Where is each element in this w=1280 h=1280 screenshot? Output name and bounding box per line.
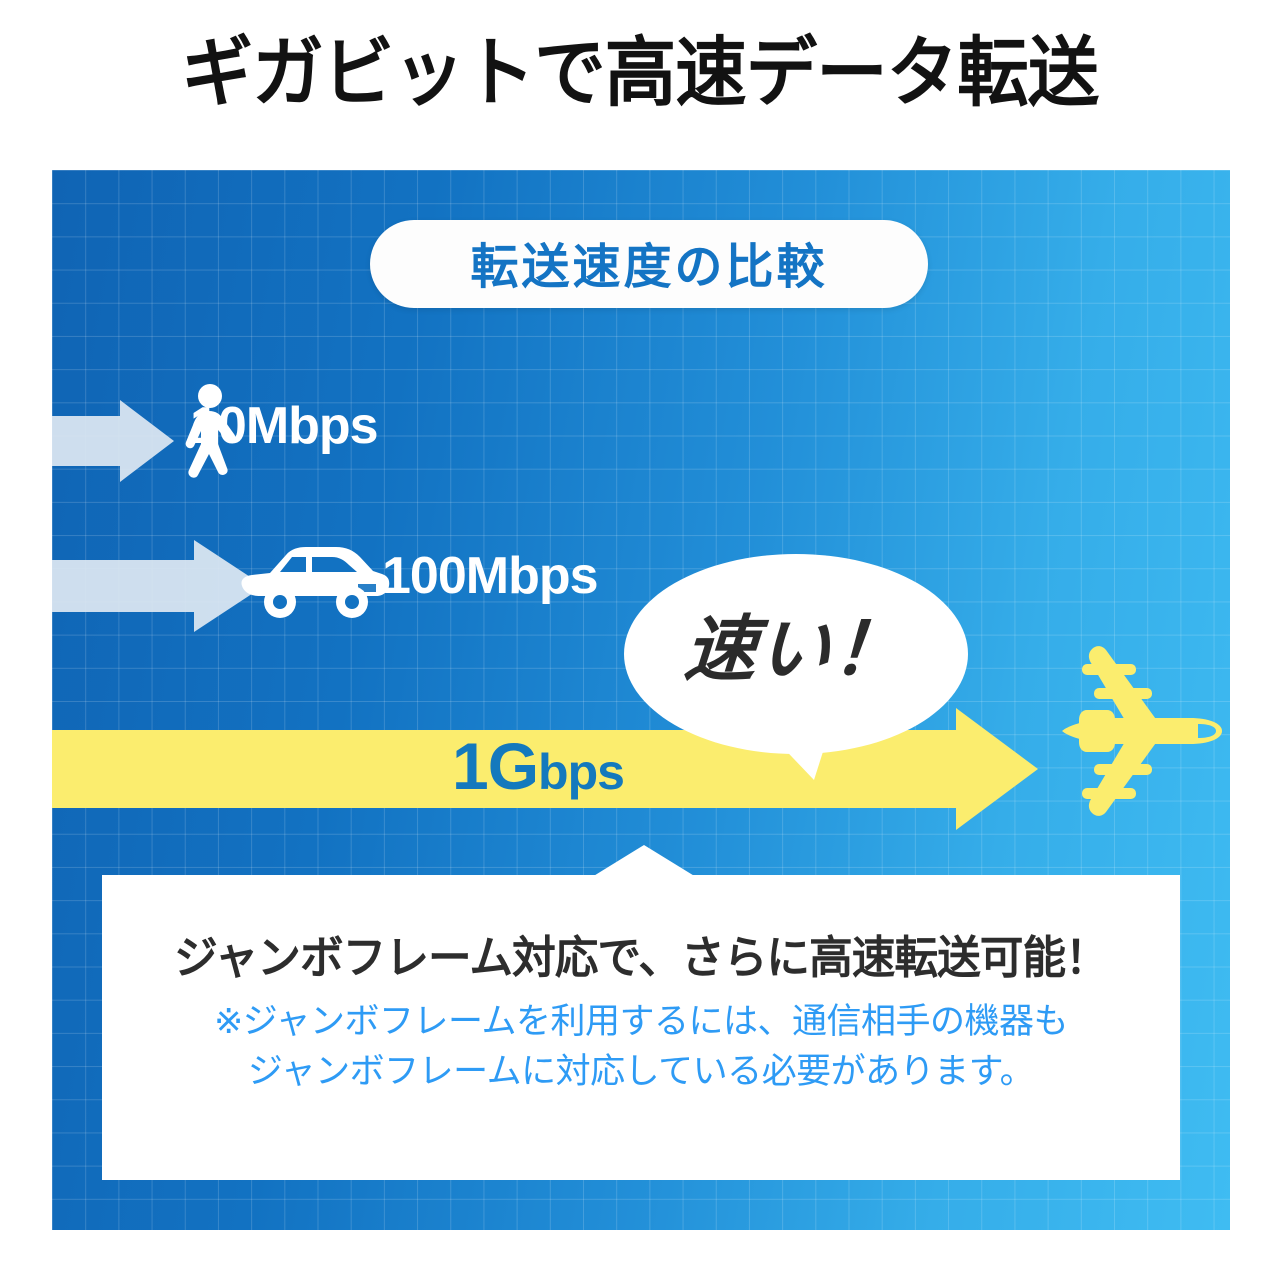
panel-notch [592, 845, 696, 877]
pale-arrow-medium-icon [52, 540, 264, 632]
panel-note-line1: ※ジャンボフレームを利用するには、通信相手の機器も [102, 997, 1180, 1047]
speed-label-100mbps: 100Mbps [382, 546, 598, 606]
comparison-canvas: 転送速度の比較 10Mbps [52, 170, 1230, 1230]
speed-label-10mbps: 10Mbps [190, 396, 378, 456]
panel-note-line2: ジャンボフレームに対応している必要があります。 [102, 1047, 1180, 1097]
car-icon [240, 546, 390, 620]
info-panel: ジャンボフレーム対応で、さらに高速転送可能！ ※ジャンボフレームを利用するには、… [102, 875, 1180, 1180]
panel-note: ※ジャンボフレームを利用するには、通信相手の機器も ジャンボフレームに対応してい… [102, 997, 1180, 1096]
infographic-root: ギガビットで高速データ転送 転送速度の比較 10Mbps [0, 0, 1280, 1280]
gbps-value-big: 1G [452, 729, 538, 803]
pale-arrow-short-icon [52, 400, 174, 482]
speed-row-100mbps: 100Mbps [52, 530, 672, 642]
panel-heading: ジャンボフレーム対応で、さらに高速転送可能！ [118, 921, 1164, 986]
speech-bubble-text: 速い！ [618, 590, 973, 695]
airplane-icon [1040, 636, 1230, 828]
comparison-badge: 転送速度の比較 [370, 220, 928, 308]
page-title: ギガビットで高速データ転送 [38, 34, 1241, 114]
comparison-badge-label: 転送速度の比較 [470, 227, 827, 297]
gbps-value-small: bps [538, 744, 624, 800]
speed-row-10mbps: 10Mbps [52, 382, 472, 492]
gbps-label: 1Gbps [452, 728, 624, 804]
